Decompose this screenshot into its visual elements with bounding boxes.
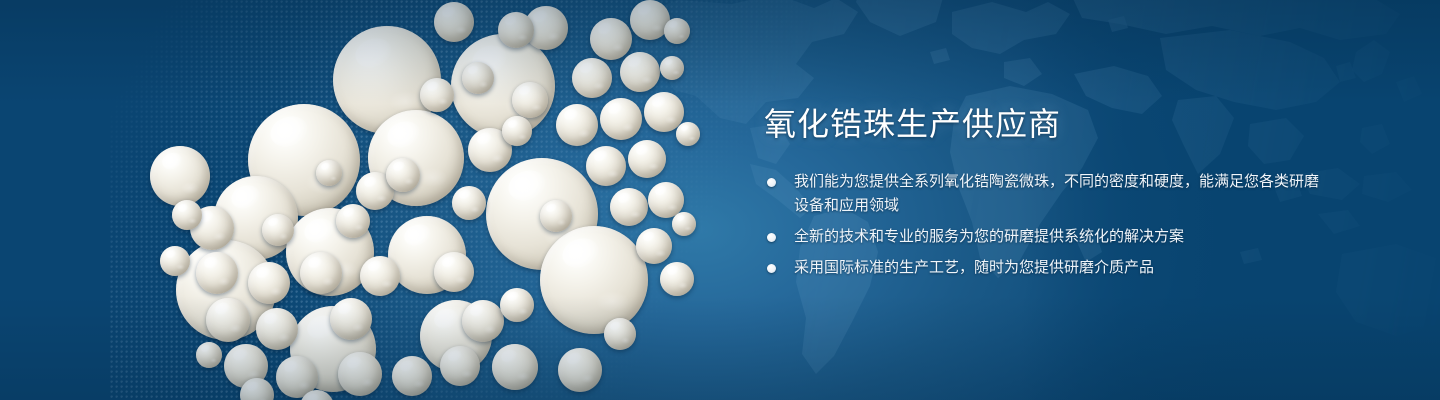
hero-banner: 氧化锆珠生产供应商 我们能为您提供全系列氧化锆陶瓷微珠，不同的密度和硬度，能满足…	[0, 0, 1440, 400]
banner-feature-list: 我们能为您提供全系列氧化锆陶瓷微珠，不同的密度和硬度，能满足您各类研磨设备和应用…	[764, 170, 1324, 280]
bullet-international-standard: 采用国际标准的生产工艺，随时为您提供研磨介质产品	[764, 256, 1324, 280]
bullet-technology-service: 全新的技术和专业的服务为您的研磨提供系统化的解决方案	[764, 225, 1324, 249]
bullet-dot-icon	[767, 264, 776, 273]
bullet-dot-icon	[767, 233, 776, 242]
bullet-text: 采用国际标准的生产工艺，随时为您提供研磨介质产品	[794, 259, 1154, 276]
bullet-product-range: 我们能为您提供全系列氧化锆陶瓷微珠，不同的密度和硬度，能满足您各类研磨设备和应用…	[764, 170, 1324, 218]
bullet-dot-icon	[767, 178, 776, 187]
banner-copy: 氧化锆珠生产供应商 我们能为您提供全系列氧化锆陶瓷微珠，不同的密度和硬度，能满足…	[764, 104, 1324, 280]
banner-headline: 氧化锆珠生产供应商	[764, 104, 1324, 144]
bullet-text: 我们能为您提供全系列氧化锆陶瓷微珠，不同的密度和硬度，能满足您各类研磨设备和应用…	[794, 173, 1319, 214]
background-left-panel	[0, 0, 340, 400]
bullet-text: 全新的技术和专业的服务为您的研磨提供系统化的解决方案	[794, 228, 1184, 245]
